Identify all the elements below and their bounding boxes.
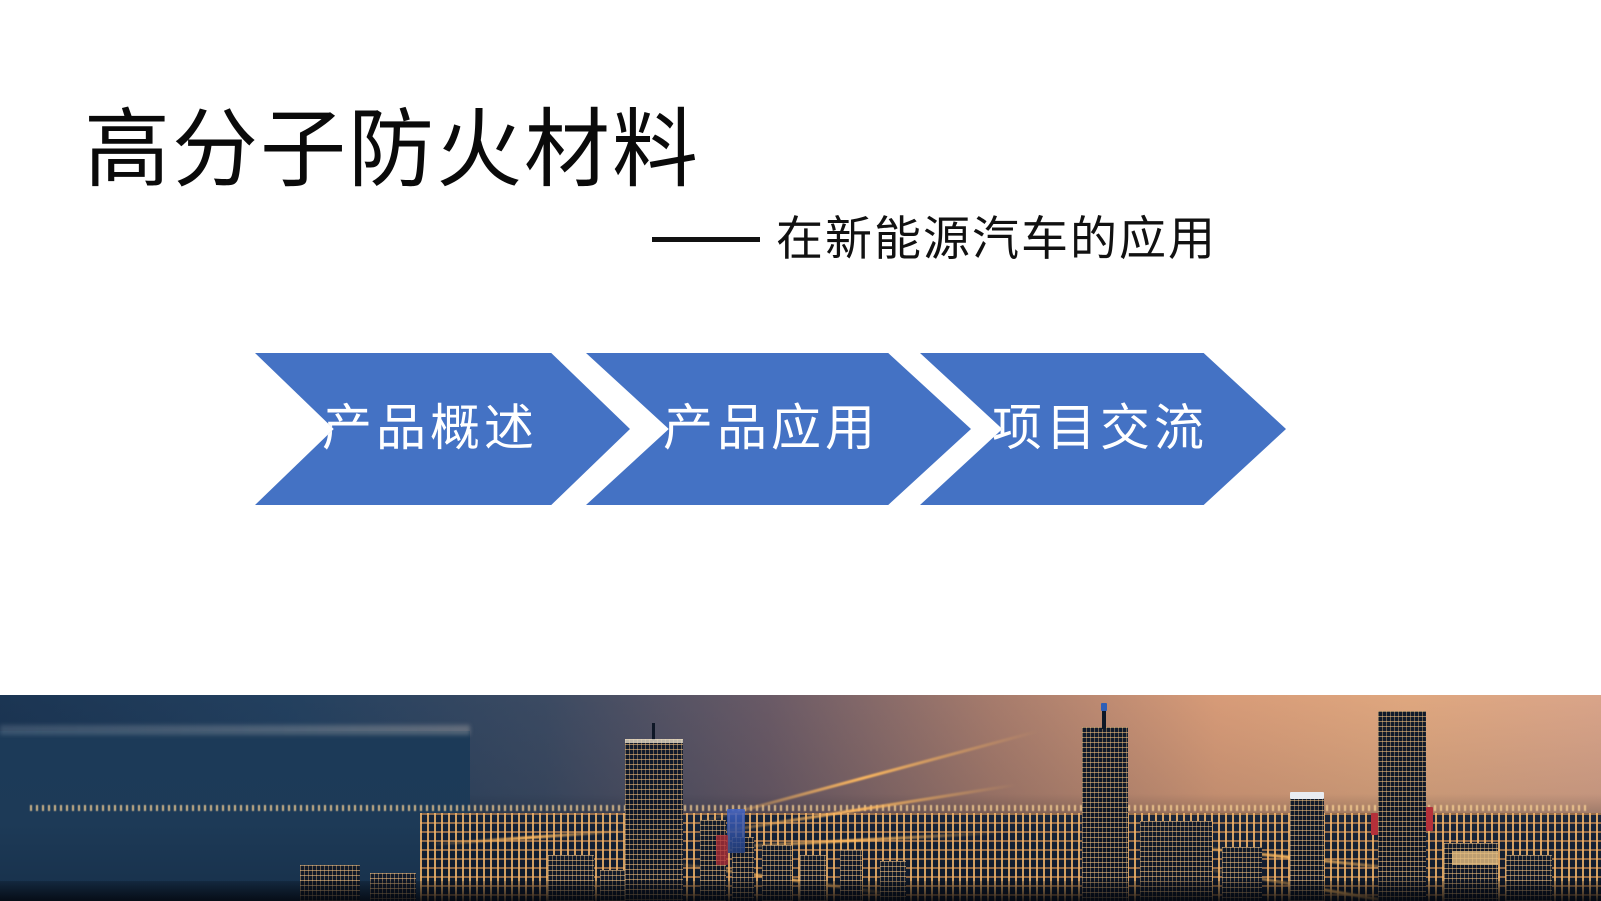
distant-shore-lights <box>30 805 1590 811</box>
right-tower-tall <box>1082 727 1128 901</box>
agenda-item-label: 产品概述 <box>322 403 538 453</box>
agenda-item-label: 项目交流 <box>992 403 1208 453</box>
agenda-item-product-overview[interactable]: 产品概述 <box>255 353 630 505</box>
agenda-chevron-band: 产品概述 产品应用 项目交流 <box>0 353 1601 505</box>
page-title: 高分子防火材料 <box>84 104 700 197</box>
agenda-item-project-discussion[interactable]: 项目交流 <box>920 353 1286 505</box>
red-lit-facade <box>716 835 728 865</box>
right-tower-tallest <box>1378 711 1426 901</box>
slide-subtitle-text: 在新能源汽车的应用 <box>776 216 1217 263</box>
warm-window-block <box>1452 851 1498 865</box>
agenda-item-label: 产品应用 <box>663 403 879 453</box>
foreground-shadow <box>0 881 1601 901</box>
primary-tower <box>625 739 683 901</box>
shoreline-haze <box>0 725 470 735</box>
tower-crown-light <box>625 739 683 743</box>
blue-lit-tower <box>727 809 745 853</box>
city-skyline-photo <box>0 695 1601 901</box>
tower-beacon-red <box>1426 807 1433 831</box>
tower-roof-light <box>1290 792 1324 799</box>
presentation-slide: 高分子防火材料 在新能源汽车的应用 产品概述 产品应用 项目交流 <box>0 0 1601 901</box>
em-dash-rule <box>652 237 760 242</box>
antenna-beacon <box>1101 703 1107 711</box>
agenda-item-product-application[interactable]: 产品应用 <box>586 353 971 505</box>
tower-beacon-red <box>1371 813 1378 835</box>
slide-subtitle: 在新能源汽车的应用 <box>652 216 1217 263</box>
